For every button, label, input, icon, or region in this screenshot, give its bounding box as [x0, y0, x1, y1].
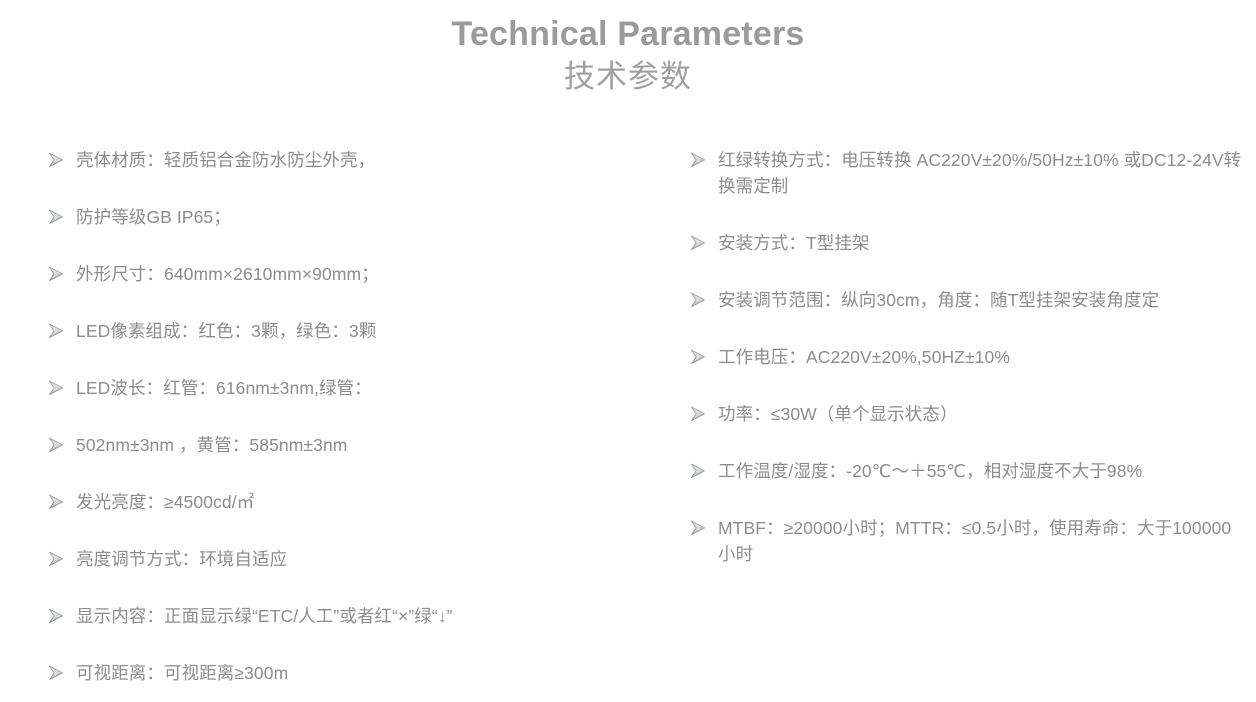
spec-item-text: 工作温度/湿度：-20℃～＋55℃，相对湿度不大于98%: [718, 458, 1248, 484]
spec-item: 发光亮度：≥4500cd/㎡: [48, 489, 638, 515]
arrow-bullet-icon: [48, 380, 66, 396]
spec-item-text: 安装调节范围：纵向30cm，角度：随T型挂架安装角度定: [718, 287, 1248, 313]
spec-columns: 壳体材质：轻质铝合金防水防尘外壳，防护等级GB IP65；外形尺寸：640mm×…: [0, 147, 1256, 702]
spec-item-text: 壳体材质：轻质铝合金防水防尘外壳，: [76, 147, 638, 173]
spec-item-text: 安装方式：T型挂架: [718, 230, 1248, 256]
spec-item-text: 502nm±3nm ，黄管：585nm±3nm: [76, 432, 638, 458]
technical-parameters-page: Technical Parameters 技术参数 壳体材质：轻质铝合金防水防尘…: [0, 0, 1256, 702]
arrow-bullet-icon: [48, 209, 66, 225]
arrow-bullet-icon: [48, 665, 66, 681]
page-title-chinese: 技术参数: [0, 56, 1256, 98]
arrow-bullet-icon: [48, 551, 66, 567]
spec-item: 壳体材质：轻质铝合金防水防尘外壳，: [48, 147, 638, 173]
spec-item: LED像素组成：红色：3颗，绿色：3颗: [48, 318, 638, 344]
spec-item-text: 外形尺寸：640mm×2610mm×90mm；: [76, 261, 638, 287]
arrow-bullet-icon: [48, 323, 66, 339]
page-heading: Technical Parameters 技术参数: [0, 12, 1256, 98]
arrow-bullet-icon: [690, 406, 708, 422]
spec-item-text: 功率：≤30W（单个显示状态）: [718, 401, 1248, 427]
spec-list-left: 壳体材质：轻质铝合金防水防尘外壳，防护等级GB IP65；外形尺寸：640mm×…: [48, 147, 638, 686]
spec-item-text: 亮度调节方式：环境自适应: [76, 546, 638, 572]
arrow-bullet-icon: [48, 437, 66, 453]
spec-item: 显示内容：正面显示绿“ETC/人工”或者红“×”绿“↓”: [48, 603, 638, 629]
spec-item: 工作温度/湿度：-20℃～＋55℃，相对湿度不大于98%: [690, 458, 1248, 484]
arrow-bullet-icon: [690, 349, 708, 365]
spec-item-text: 防护等级GB IP65；: [76, 204, 638, 230]
spec-item: 可视距离：可视距离≥300m: [48, 660, 638, 686]
spec-item-text: 红绿转换方式：电压转换 AC220V±20%/50Hz±10% 或DC12-24…: [718, 147, 1248, 199]
arrow-bullet-icon: [48, 152, 66, 168]
spec-item: 安装调节范围：纵向30cm，角度：随T型挂架安装角度定: [690, 287, 1248, 313]
spec-item-text: LED像素组成：红色：3颗，绿色：3颗: [76, 318, 638, 344]
spec-item-text: LED波长：红管：616nm±3nm,绿管：: [76, 375, 638, 401]
spec-item: 外形尺寸：640mm×2610mm×90mm；: [48, 261, 638, 287]
spec-item: 功率：≤30W（单个显示状态）: [690, 401, 1248, 427]
spec-item: MTBF：≥20000小时；MTTR：≤0.5小时，使用寿命：大于100000小…: [690, 515, 1248, 567]
page-title-english: Technical Parameters: [0, 12, 1256, 56]
arrow-bullet-icon: [690, 292, 708, 308]
spec-list-right: 红绿转换方式：电压转换 AC220V±20%/50Hz±10% 或DC12-24…: [690, 147, 1248, 567]
spec-item: 工作电压：AC220V±20%,50HZ±10%: [690, 344, 1248, 370]
arrow-bullet-icon: [690, 520, 708, 536]
spec-item-text: MTBF：≥20000小时；MTTR：≤0.5小时，使用寿命：大于100000小…: [718, 515, 1248, 567]
arrow-bullet-icon: [48, 494, 66, 510]
spec-item-text: 显示内容：正面显示绿“ETC/人工”或者红“×”绿“↓”: [76, 603, 638, 629]
spec-item: 亮度调节方式：环境自适应: [48, 546, 638, 572]
arrow-bullet-icon: [690, 235, 708, 251]
spec-item: 安装方式：T型挂架: [690, 230, 1248, 256]
arrow-bullet-icon: [48, 266, 66, 282]
spec-item: 红绿转换方式：电压转换 AC220V±20%/50Hz±10% 或DC12-24…: [690, 147, 1248, 199]
spec-item: 防护等级GB IP65；: [48, 204, 638, 230]
spec-column-right: 红绿转换方式：电压转换 AC220V±20%/50Hz±10% 或DC12-24…: [690, 147, 1248, 567]
arrow-bullet-icon: [690, 463, 708, 479]
arrow-bullet-icon: [690, 152, 708, 168]
arrow-bullet-icon: [48, 608, 66, 624]
spec-item: 502nm±3nm ，黄管：585nm±3nm: [48, 432, 638, 458]
spec-item-text: 发光亮度：≥4500cd/㎡: [76, 489, 638, 515]
spec-column-left: 壳体材质：轻质铝合金防水防尘外壳，防护等级GB IP65；外形尺寸：640mm×…: [48, 147, 638, 686]
spec-item-text: 可视距离：可视距离≥300m: [76, 660, 638, 686]
spec-item: LED波长：红管：616nm±3nm,绿管：: [48, 375, 638, 401]
spec-item-text: 工作电压：AC220V±20%,50HZ±10%: [718, 344, 1248, 370]
